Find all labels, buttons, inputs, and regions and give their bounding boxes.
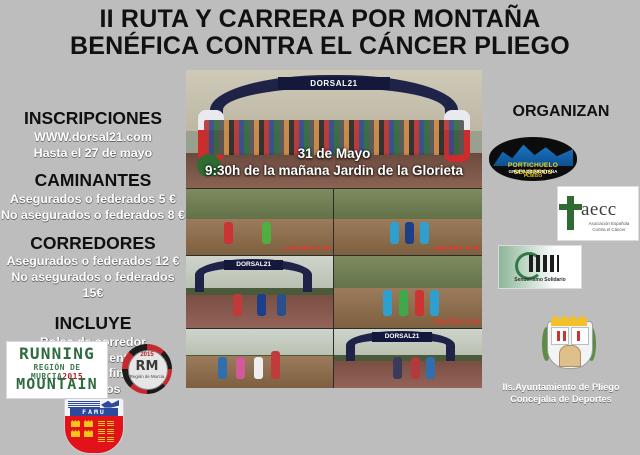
walker-blue-2 — [405, 222, 414, 244]
famu-castle-6 — [107, 437, 114, 442]
inscripciones-deadline: Hasta el 27 de mayo — [0, 146, 186, 162]
crest-crown — [551, 315, 587, 326]
senderismo-solidario-logo: Senderismo Solidario — [498, 245, 582, 289]
group-runner-4 — [430, 290, 439, 316]
event-date-block: 31 de Mayo 9:30h de la mañana Jardin de … — [186, 146, 482, 180]
corredores-price-insured: Asegurados o federados 12 € — [0, 254, 186, 270]
photo-group-runners-hillside: 1/06/2014 9:38 — [334, 256, 482, 328]
famu-crown-3 — [71, 430, 80, 437]
famu-castle-1 — [98, 421, 105, 426]
corredores-price-uninsured: No asegurados o federados 15€ — [0, 270, 186, 302]
crest-cross-2 — [563, 331, 566, 341]
rm-badge-sub: Región de Murcia — [124, 374, 170, 379]
portichuelo-senderos-logo: PORTICHUELO SENDEROS GRUPO DE MONTAÑA PL… — [489, 137, 577, 181]
poster-title-line2: BENÉFICA CONTRA EL CÁNCER PLIEGO — [0, 33, 640, 60]
photo-finish-line-arch-town: DORSAL21 — [186, 256, 333, 328]
photo-timestamp-2: 1/06/2014 9:38 — [433, 246, 479, 252]
cross-icon — [567, 196, 574, 230]
finisher-3 — [277, 294, 286, 316]
running-mountain-word2: MOUNTAIN — [7, 375, 107, 393]
inscripciones-url[interactable]: WWW.dorsal21.com — [0, 130, 186, 146]
photo-spectators-on-path — [186, 329, 333, 388]
rm-badge-initials: RM — [128, 359, 166, 374]
ayuntamiento-line1: Ils.Ayuntamiento de Pliego — [502, 382, 619, 392]
group-runner-3 — [415, 290, 424, 316]
runner-red — [224, 222, 233, 244]
spectator-4 — [271, 351, 280, 379]
finisher-4 — [393, 357, 402, 379]
caminantes-price-insured: Asegurados o federados 5 € — [0, 192, 186, 208]
corredores-heading: CORREDORES — [0, 233, 186, 254]
aecc-name: aecc — [581, 199, 617, 221]
photo-sky-2 — [186, 329, 333, 355]
left-logo-row: RUNNING REGIÓN DE MURCIA2015 MOUNTAIN 20… — [4, 341, 184, 399]
poster-title-line1: II RUTA Y CARRERA POR MONTAÑA — [0, 6, 640, 33]
runner-green — [262, 222, 271, 244]
spacer-1 — [0, 161, 186, 170]
arch-sponsor-banner-3: DORSAL21 — [372, 332, 431, 342]
spectator-3 — [254, 357, 263, 379]
finisher-1 — [233, 294, 242, 316]
crest-cross-3 — [577, 331, 580, 341]
crest-cross-1 — [557, 331, 560, 341]
ayuntamiento-line2: Concejalía de Deportes — [510, 394, 612, 404]
finisher-5 — [411, 357, 420, 379]
inscripciones-heading: INSCRIPCIONES — [0, 108, 186, 129]
photo-two-runners-trail: 1/06/2014 9:38 — [186, 189, 333, 255]
ayuntamiento-credit: Ils.Ayuntamiento de Pliego Concejalía de… — [482, 381, 640, 406]
arch-sponsor-banner-2: DORSAL21 — [224, 260, 283, 270]
famu-castle-5 — [98, 437, 105, 442]
event-poster: II RUTA Y CARRERA POR MONTAÑA BENÉFICA C… — [0, 0, 640, 455]
group-runner-1 — [383, 290, 392, 316]
crest-quarter-2 — [571, 327, 589, 345]
famu-crown-2 — [84, 420, 93, 427]
running-mountain-word1: RUNNING — [7, 344, 107, 363]
caminantes-heading: CAMINANTES — [0, 170, 186, 191]
photo-wet-road-2 — [334, 361, 482, 388]
finisher-6 — [426, 357, 435, 379]
famu-crown-1 — [71, 420, 80, 427]
spacer-2 — [0, 224, 186, 233]
famu-name: FAMU — [70, 408, 118, 416]
aecc-logo: aecc Asociación Española Contra el Cánce… — [557, 186, 639, 241]
incluye-heading: INCLUYE — [0, 313, 186, 334]
famu-bird-icon — [101, 400, 119, 408]
crest-quarter-1 — [551, 327, 569, 345]
walker-blue-1 — [390, 222, 399, 244]
famu-shield: FAMU — [64, 398, 124, 454]
people-group-icon — [529, 255, 559, 272]
event-time-place: 9:30h de la mañana Jardin de la Glorieta — [186, 163, 482, 180]
organizan-heading: ORGANIZAN — [482, 103, 640, 121]
famu-castle-2 — [107, 421, 114, 426]
photo-timestamp: 1/06/2014 9:38 — [284, 246, 330, 252]
photo-walkers-on-dirt-track: 1/06/2014 9:38 — [334, 189, 482, 255]
pliego-coat-of-arms — [541, 315, 597, 377]
famu-castle-3 — [98, 429, 105, 434]
photo-finish-line-arch-wet-road: DORSAL21 — [334, 329, 482, 388]
famu-crown-4 — [84, 430, 93, 437]
spectator-1 — [218, 357, 227, 379]
famu-stripes — [68, 401, 100, 408]
poster-title: II RUTA Y CARRERA POR MONTAÑA BENÉFICA C… — [0, 6, 640, 60]
aecc-sub1: Asociación Española — [582, 221, 636, 226]
photo-collage: DORSAL21 1/06/2014 9:38 1/06/2014 9:38 D… — [186, 70, 482, 388]
arch-sponsor-banner: DORSAL21 — [278, 77, 390, 90]
spectator-2 — [236, 357, 245, 379]
famu-shield-logo: FAMU — [64, 398, 122, 452]
finisher-2 — [257, 294, 266, 316]
photo-timestamp-3: 1/06/2014 9:38 — [433, 319, 479, 325]
group-runner-2 — [399, 290, 408, 316]
famu-castle-4 — [107, 429, 114, 434]
walker-blue-3 — [420, 222, 429, 244]
aecc-sub2: Contra el Cáncer — [582, 227, 636, 232]
rm-badge-logo: 2015 RM Región de Murcia — [116, 341, 178, 397]
rm-badge-year: 2015 — [128, 352, 166, 358]
spacer-3 — [0, 302, 186, 313]
crest-gate — [559, 345, 581, 367]
senderismo-caption: Senderismo Solidario — [499, 277, 581, 283]
caminantes-price-uninsured: No asegurados o federados 8 € — [0, 208, 186, 224]
portichuelo-line3: PLIEGO — [489, 174, 577, 179]
event-date: 31 de Mayo — [186, 146, 482, 163]
running-mountain-logo: RUNNING REGIÓN DE MURCIA2015 MOUNTAIN — [6, 341, 108, 399]
